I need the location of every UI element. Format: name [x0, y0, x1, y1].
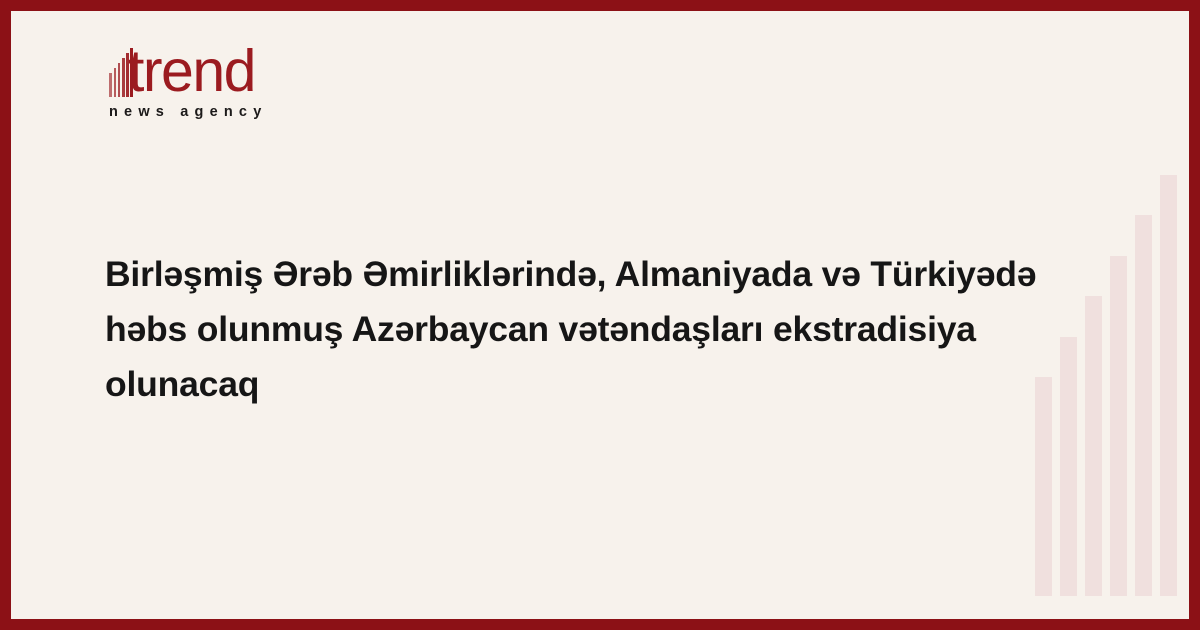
headline-line-2: həbs olunmuş Azərbaycan vətəndaşları eks… — [105, 302, 1105, 357]
page-title: Birləşmiş Ərəb Əmirliklərində, Almaniyad… — [105, 247, 1105, 412]
decoration-bar — [1110, 256, 1127, 596]
logo-bar — [114, 68, 117, 97]
logo-wordmark-row: trend — [98, 45, 398, 105]
logo-bar — [118, 63, 121, 97]
card-inner-surface: trend news agency Birləşmiş Ərəb Əmirlik… — [11, 11, 1189, 619]
decoration-bar — [1135, 215, 1152, 596]
news-card: trend news agency Birləşmiş Ərəb Əmirlik… — [0, 0, 1200, 630]
trend-news-agency-logo[interactable]: trend news agency — [98, 45, 398, 137]
logo-bar — [109, 73, 112, 98]
headline-line-3: olunacaq — [105, 357, 1105, 412]
logo-tagline-text: news agency — [109, 104, 267, 120]
logo-bar — [122, 58, 125, 97]
logo-wordmark-text: trend — [128, 39, 255, 103]
headline-line-1: Birləşmiş Ərəb Əmirliklərində, Almaniyad… — [105, 247, 1105, 302]
decoration-bar — [1160, 175, 1177, 596]
